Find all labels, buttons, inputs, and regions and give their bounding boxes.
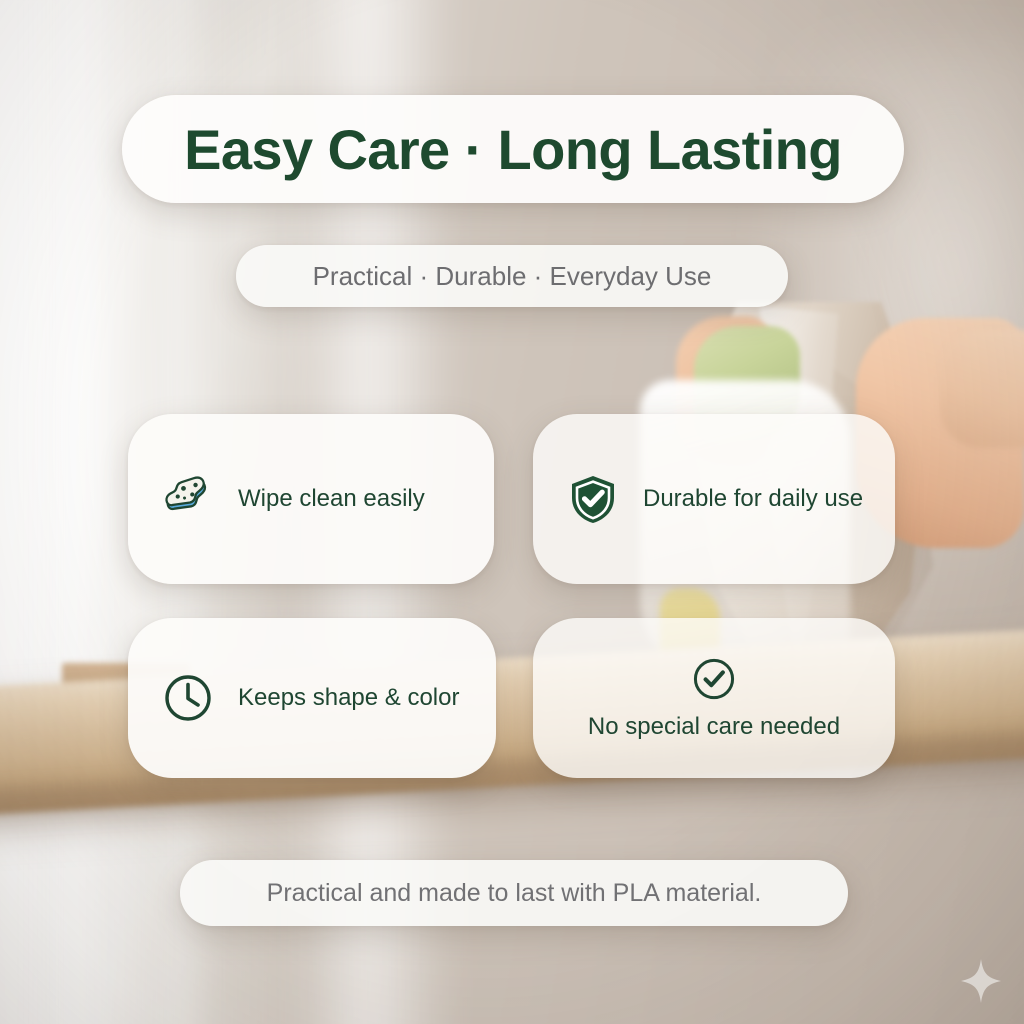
feature-card-keeps-shape[interactable]: Keeps shape & color [128, 618, 496, 778]
clock-icon [162, 672, 214, 724]
feature-label: Durable for daily use [643, 486, 863, 512]
feature-label: Keeps shape & color [238, 685, 459, 711]
curtain-fold [40, 0, 110, 1024]
infographic-canvas: Easy Care · Long Lasting Practical · Dur… [0, 0, 1024, 1024]
sparkle-icon [960, 958, 1002, 1004]
check-circle-icon [691, 656, 737, 702]
shield-check-icon [567, 473, 619, 525]
subtitle-pill: Practical · Durable · Everyday Use [236, 245, 788, 307]
feature-label: Wipe clean easily [238, 486, 425, 512]
title-pill: Easy Care · Long Lasting [122, 95, 904, 203]
sponge-icon [162, 473, 214, 525]
page-title: Easy Care · Long Lasting [184, 117, 842, 182]
page-subtitle: Practical · Durable · Everyday Use [313, 261, 712, 292]
feature-card-no-special-care[interactable]: No special care needed [533, 618, 895, 778]
feature-card-durable[interactable]: Durable for daily use [533, 414, 895, 584]
feature-label: No special care needed [588, 714, 840, 740]
caption-text: Practical and made to last with PLA mate… [267, 879, 762, 908]
feature-card-wipe-clean[interactable]: Wipe clean easily [128, 414, 494, 584]
wrist [940, 330, 1024, 448]
caption-pill: Practical and made to last with PLA mate… [180, 860, 848, 926]
